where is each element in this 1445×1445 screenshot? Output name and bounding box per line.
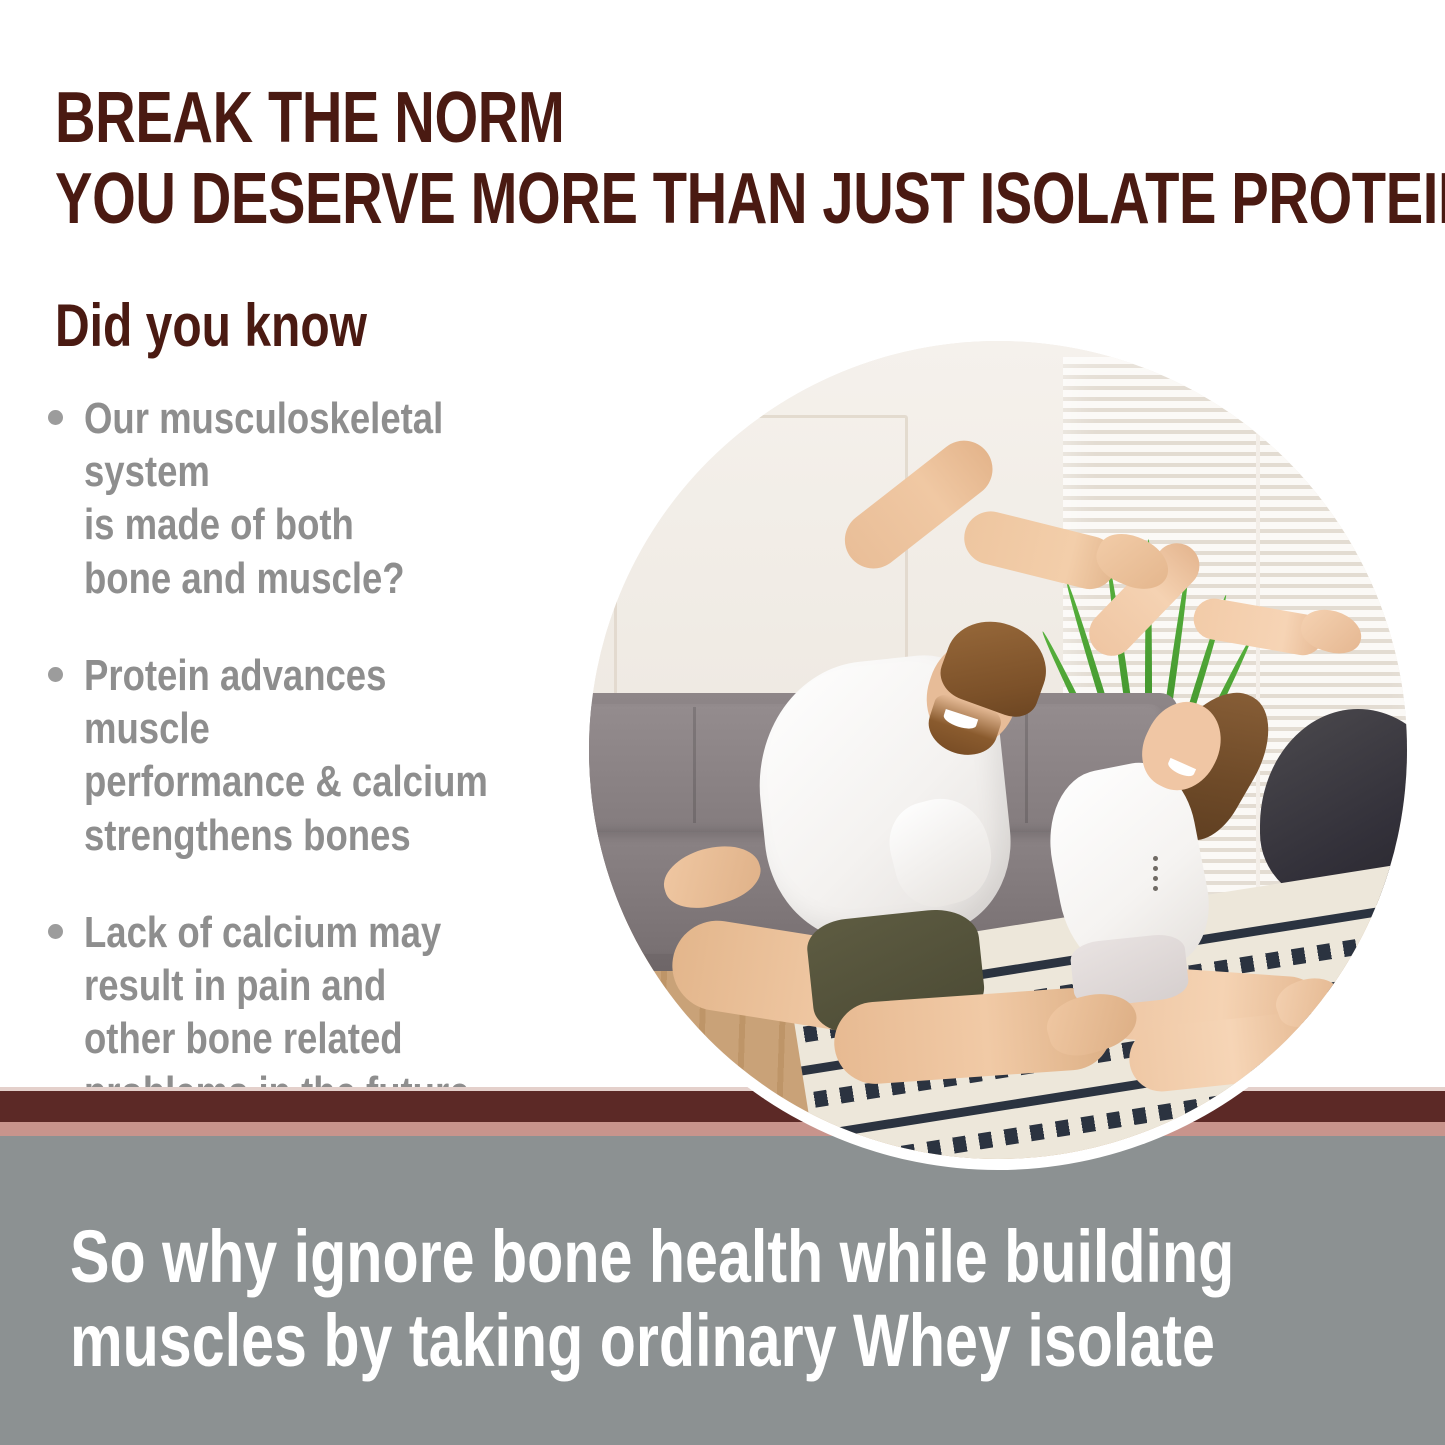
bullet-dot-icon	[48, 410, 63, 425]
bullet-dot-icon	[48, 924, 63, 939]
footer-message: So why ignore bone health while building…	[70, 1215, 1126, 1384]
footer-line-2: muscles by taking ordinary Whey isolate	[70, 1299, 1126, 1383]
headline-line-2: YOU DESERVE MORE THAN JUST ISOLATE PROTE…	[55, 159, 1092, 240]
list-item-label: Protein advances muscle performance & ca…	[84, 649, 519, 862]
promo-poster: BREAK THE NORM YOU DESERVE MORE THAN JUS…	[0, 0, 1445, 1445]
list-item: Protein advances muscle performance & ca…	[48, 649, 608, 862]
circular-photo-frame	[578, 330, 1418, 1170]
sofa-seam	[693, 707, 696, 824]
list-item: Our musculoskeletal system is made of bo…	[48, 392, 608, 605]
sofa-leg	[616, 957, 625, 985]
did-you-know-heading: Did you know	[55, 296, 367, 356]
footer-line-1: So why ignore bone health while building	[70, 1215, 1126, 1299]
page-title: BREAK THE NORM YOU DESERVE MORE THAN JUS…	[55, 78, 1092, 241]
tank-top-buttons	[1153, 856, 1169, 921]
exercise-photo	[589, 341, 1407, 1159]
fact-list: Our musculoskeletal system is made of bo…	[48, 392, 608, 1163]
sofa-seam	[1025, 707, 1028, 824]
list-item-label: Our musculoskeletal system is made of bo…	[84, 392, 519, 605]
headline-line-1: BREAK THE NORM	[55, 78, 1092, 159]
bullet-dot-icon	[48, 667, 63, 682]
